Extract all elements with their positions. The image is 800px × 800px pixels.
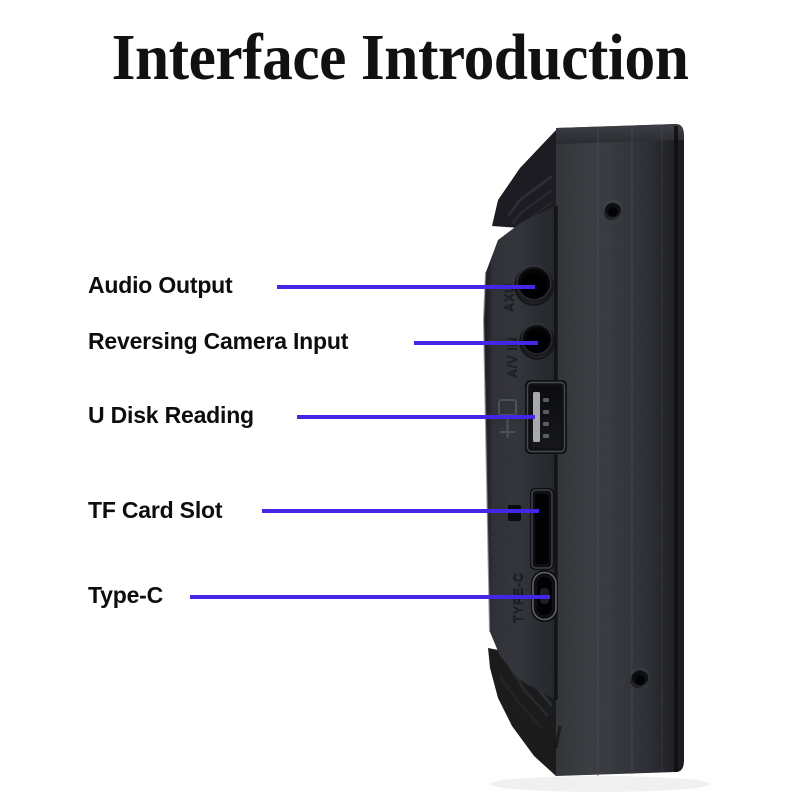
callout-label-audio-output: Audio Output xyxy=(88,274,233,297)
screw-hole-bottom xyxy=(631,669,650,690)
leader-line-u-disk-reading xyxy=(297,415,535,419)
leader-line-tf-card-slot xyxy=(262,509,539,513)
callout-label-type-c: Type-C xyxy=(88,584,163,607)
callout-label-u-disk-reading: U Disk Reading xyxy=(88,404,254,427)
callout-label-reversing-camera-input: Reversing Camera Input xyxy=(88,330,348,353)
leader-line-audio-output xyxy=(277,285,535,289)
device-svg xyxy=(0,0,800,800)
leader-line-reversing-camera-input xyxy=(414,341,538,345)
leader-line-type-c xyxy=(190,595,550,599)
interface-introduction-page: Interface Introduction xyxy=(0,0,800,800)
device-back-body xyxy=(556,124,684,776)
callout-label-tf-card-slot: TF Card Slot xyxy=(88,499,222,522)
device-illustration xyxy=(0,0,800,800)
screw-hole-top xyxy=(604,201,622,221)
